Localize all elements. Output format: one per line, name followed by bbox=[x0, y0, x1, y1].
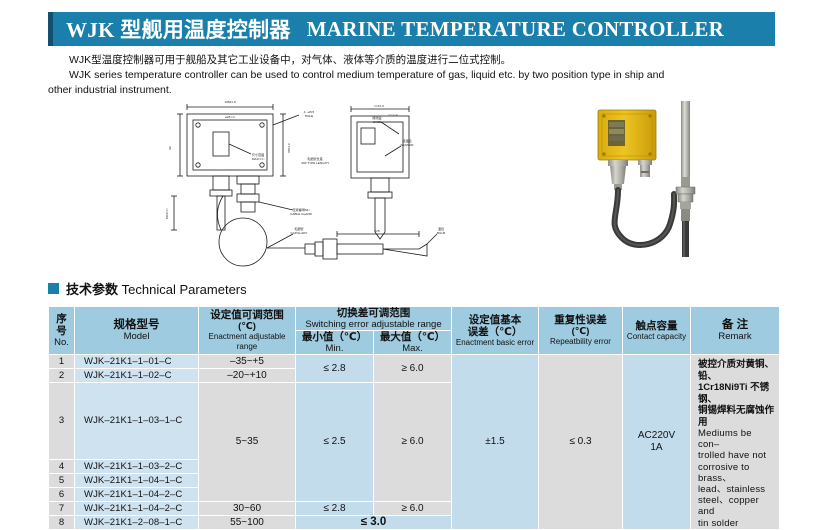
cell-no: 1 bbox=[49, 355, 75, 369]
svg-text:HOLE: HOLE bbox=[305, 114, 313, 118]
cell-model: WJK–21K1–2–08–1–C bbox=[75, 515, 199, 529]
cell-model: WJK–21K1–1–04–2–C bbox=[75, 487, 199, 501]
th-switch-min: 最小值（℃） Min. bbox=[296, 331, 374, 355]
page-title-cn: WJK 型舰用温度控制器 bbox=[66, 14, 291, 44]
svg-text:150±□□: 150±□□ bbox=[165, 209, 169, 220]
svg-text:225: 225 bbox=[374, 229, 379, 233]
svg-text:68±1.0: 68±1.0 bbox=[287, 143, 291, 153]
page-title-bar: WJK 型舰用温度控制器 MARINE TEMPERATURE CONTROLL… bbox=[48, 12, 775, 46]
cell-no: 8 bbox=[49, 515, 75, 529]
section-heading-cn: 技术参数 bbox=[66, 282, 118, 297]
th-no: 序 号 No. bbox=[49, 307, 75, 355]
cell-switch-min: ≤ 2.5 bbox=[296, 383, 374, 502]
technical-parameters-table: 序 号 No. 规格型号 Model 设定值可调范围 (℃) Enactment… bbox=[48, 306, 780, 530]
cell-model: WJK–21K1–1–03–1–C bbox=[75, 383, 199, 460]
cell-switch-max: ≥ 6.0 bbox=[374, 383, 452, 502]
cell-model: WJK–21K1–1–01–C bbox=[75, 355, 199, 369]
table-row: 1 WJK–21K1–1–01–C –35~+5 ≤ 2.8 ≥ 6.0 ±1.… bbox=[49, 355, 780, 369]
cell-basic-error: ±1.5 bbox=[452, 355, 539, 530]
cell-switch-min: ≤ 2.8 bbox=[296, 501, 374, 515]
th-contact-capacity: 触点容量 Contact capacity bbox=[623, 307, 691, 355]
intro-line-en-1: WJK series temperature controller can be… bbox=[48, 68, 796, 83]
cell-set-range: 30~60 bbox=[199, 501, 296, 515]
cell-switch-merged: ≤ 3.0 bbox=[296, 515, 452, 529]
svg-text:SENSOR: SENSOR bbox=[400, 143, 414, 147]
page-title-en: MARINE TEMPERATURE CONTROLLER bbox=[307, 17, 724, 42]
cell-repeatability: ≤ 0.3 bbox=[539, 355, 623, 530]
cell-remark: 被控介质对黄铜、铅、 1Cr18Ni9Ti 不锈钢、 铜锡焊料无腐蚀作用 Med… bbox=[691, 355, 780, 530]
svg-text:400 TYPE LENGTH: 400 TYPE LENGTH bbox=[301, 161, 328, 165]
cell-model: WJK–21K1–1–04–1–C bbox=[75, 473, 199, 487]
cell-set-range: 5~35 bbox=[199, 383, 296, 502]
th-set-range: 设定值可调范围 (℃) Enactment adjustable range bbox=[199, 307, 296, 355]
title-accent-bar bbox=[48, 12, 53, 46]
cell-no: 7 bbox=[49, 501, 75, 515]
svg-text:106±1.0: 106±1.0 bbox=[224, 100, 235, 104]
datasheet-page: WJK 型舰用温度控制器 MARINE TEMPERATURE CONTROLL… bbox=[0, 0, 830, 491]
th-remark: 备 注 Remark bbox=[691, 307, 780, 355]
cell-no: 5 bbox=[49, 473, 75, 487]
section-heading: 技术参数 Technical Parameters bbox=[48, 279, 247, 298]
cell-no: 2 bbox=[49, 369, 75, 383]
cell-switch-max: ≥ 6.0 bbox=[374, 501, 452, 515]
svg-text:ø26 □□: ø26 □□ bbox=[225, 115, 235, 119]
th-switch-max: 最大值（℃） Max. bbox=[374, 331, 452, 355]
th-basic-error: 设定值基本 误差（℃） Enactment basic error bbox=[452, 307, 539, 355]
bullet-square-icon bbox=[48, 283, 59, 294]
svg-text:CASE: CASE bbox=[373, 120, 381, 124]
cell-set-range: –20~+10 bbox=[199, 369, 296, 383]
dimensional-drawing: 106±1.0 ø26 □□ 92 68±1.0 150±□□ 尺寸范围MAX□… bbox=[163, 98, 463, 276]
intro-line-en-2: other industrial instrument. bbox=[48, 83, 796, 98]
cell-model: WJK–21K1–1–03–2–C bbox=[75, 459, 199, 473]
svg-text:BULB: BULB bbox=[437, 231, 445, 235]
cell-no: 4 bbox=[49, 459, 75, 473]
svg-text:□□ 1.0: □□ 1.0 bbox=[389, 113, 398, 117]
figure-area: 106±1.0 ø26 □□ 92 68±1.0 150±□□ 尺寸范围MAX□… bbox=[48, 98, 778, 276]
intro-text: WJK型温度控制器可用于舰船及其它工业设备中，对气体、液体等介质的温度进行二位式… bbox=[48, 53, 796, 98]
svg-text:92: 92 bbox=[168, 146, 172, 150]
cell-no: 6 bbox=[49, 487, 75, 501]
cell-set-range: 55~100 bbox=[199, 515, 296, 529]
th-switch-group: 切换差可调范围 Switching error adjustable range bbox=[296, 307, 452, 331]
th-repeatability: 重复性误差 (℃) Repeatbility error bbox=[539, 307, 623, 355]
section-heading-en: Technical Parameters bbox=[122, 282, 247, 297]
th-model: 规格型号 Model bbox=[75, 307, 199, 355]
section-heading-label: 技术参数 Technical Parameters bbox=[66, 279, 247, 298]
svg-text:MAX□□□: MAX□□□ bbox=[252, 157, 264, 161]
cell-model: WJK–21K1–1–04–2–C bbox=[75, 501, 199, 515]
cell-set-range: –35~+5 bbox=[199, 355, 296, 369]
cell-switch-min: ≤ 2.8 bbox=[296, 355, 374, 383]
cell-switch-max: ≥ 6.0 bbox=[374, 355, 452, 383]
svg-text:CABLE GLAND: CABLE GLAND bbox=[290, 212, 312, 216]
svg-text:□□±1.0: □□±1.0 bbox=[374, 104, 384, 108]
intro-line-cn: WJK型温度控制器可用于舰船及其它工业设备中，对气体、液体等介质的温度进行二位式… bbox=[48, 53, 796, 68]
table-header-row-1: 序 号 No. 规格型号 Model 设定值可调范围 (℃) Enactment… bbox=[49, 307, 780, 331]
cell-model: WJK–21K1–1–02–C bbox=[75, 369, 199, 383]
cell-no: 3 bbox=[49, 383, 75, 460]
cell-contact-capacity: AC220V 1A bbox=[623, 355, 691, 530]
product-photo bbox=[578, 98, 763, 278]
svg-text:CAPILLARY: CAPILLARY bbox=[291, 231, 308, 235]
